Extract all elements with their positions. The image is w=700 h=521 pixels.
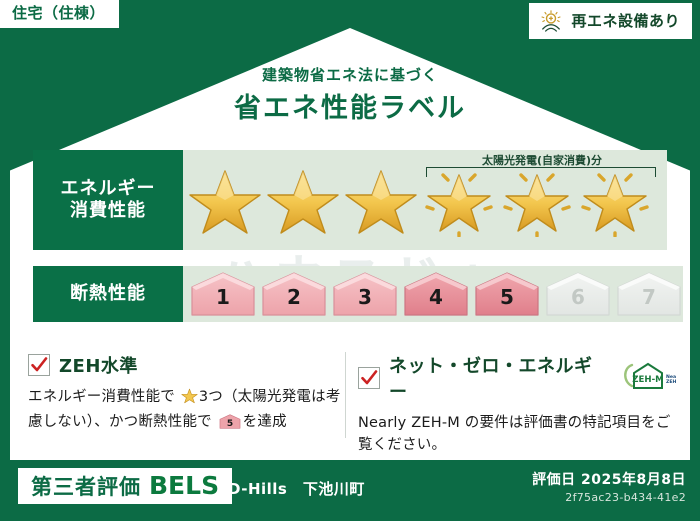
criteria-divider: [345, 352, 346, 438]
evaluation-date: 評価日 2025年8月8日: [532, 469, 686, 489]
star-rating: [183, 163, 653, 237]
insulation-performance-row: 断熱性能: [33, 266, 667, 322]
insulation-level-number: 1: [189, 270, 257, 318]
energy-row-label-line2: 消費性能: [70, 200, 146, 221]
energy-row-label-line1: エネルギー: [61, 178, 156, 199]
criterion-description: エネルギー消費性能で 3つ（太陽光発電は考慮しない）、かつ断熱性能で 5 を達成: [28, 386, 346, 438]
star-icon: [187, 163, 263, 237]
insulation-level-inline-icon: 5: [214, 418, 241, 434]
insulation-level-number: 4: [402, 270, 470, 318]
insulation-level-list: 1 2 3: [183, 270, 683, 318]
svg-text:5: 5: [226, 419, 232, 429]
solar-sun-icon: [538, 8, 564, 34]
evaluation-id: 2f75ac23-b434-41e2: [565, 491, 686, 504]
criterion-title: ZEH水準: [59, 352, 138, 378]
zeh-m-logo-icon: ZEH-M Nearly ZEH-M: [618, 361, 676, 395]
insulation-level-item: 4: [402, 270, 470, 318]
criterion-header: ZEH水準: [28, 352, 346, 378]
insulation-level-item: 2: [260, 270, 328, 318]
criterion-title: ネット・ゼロ・エネルギー: [389, 352, 605, 404]
star-icon: [343, 163, 419, 237]
building-name: D-Hills 下池川町: [228, 478, 365, 499]
building-type-tag: 住宅（住棟）: [0, 0, 119, 28]
energy-row-label: エネルギー 消費性能: [33, 150, 183, 250]
page-title: 省エネ性能ラベル: [0, 86, 700, 125]
insulation-levels-area: 1 2 3: [183, 266, 683, 322]
insulation-level-number: 6: [544, 270, 612, 318]
footer-bar: 第三者評価 BELS D-Hills 下池川町 評価日 2025年8月8日 2f…: [0, 460, 700, 521]
criterion-text-part1: エネルギー消費性能で: [28, 389, 175, 405]
insulation-level-number: 3: [331, 270, 399, 318]
energy-performance-label: 住宅（住棟） 再エネ設備あり 建築物省エネ法に基づく 省エネ性能ラベル ハウスド…: [0, 0, 700, 521]
svg-text:ZEH-M: ZEH-M: [666, 379, 676, 385]
third-party-evaluation-badge: 第三者評価 BELS: [18, 468, 232, 504]
insulation-level-number: 7: [615, 270, 683, 318]
star-icon: [265, 163, 341, 237]
energy-stars-area: 太陽光発電(自家消費)分: [183, 150, 667, 250]
criterion-text-part3: を達成: [243, 414, 287, 430]
insulation-level-item: 3: [331, 270, 399, 318]
insulation-level-item: 1: [189, 270, 257, 318]
star-icon-solar: [577, 163, 653, 237]
criterion-zeh-level: ZEH水準 エネルギー消費性能で 3つ（太陽光発電は考慮しない）、かつ断熱性能で…: [28, 352, 346, 438]
star-icon-solar: [421, 163, 497, 237]
insulation-row-label: 断熱性能: [33, 266, 183, 322]
criterion-header: ネット・ゼロ・エネルギー ZEH-M Nearly ZEH-M: [358, 352, 676, 404]
renewable-equipment-badge: 再エネ設備あり: [529, 3, 692, 39]
checkbox-checked-icon: [28, 354, 50, 376]
third-party-label: 第三者評価: [31, 477, 141, 498]
criterion-net-zero-energy: ネット・ゼロ・エネルギー ZEH-M Nearly ZEH-M Nearly Z…: [358, 352, 676, 457]
energy-performance-row: エネルギー 消費性能 太陽光発電(自家消費)分: [33, 150, 667, 250]
insulation-level-item: 6: [544, 270, 612, 318]
label-subtitle: 建築物省エネ法に基づく: [0, 64, 700, 85]
insulation-level-number: 5: [473, 270, 541, 318]
star-icon-inline: [176, 392, 198, 408]
renewable-badge-label: 再エネ設備あり: [571, 14, 680, 29]
insulation-level-item: 7: [615, 270, 683, 318]
criterion-description: Nearly ZEH-M の要件は評価書の特記項目をご覧ください。: [358, 412, 676, 457]
checkbox-checked-icon: [358, 367, 380, 389]
star-icon-solar: [499, 163, 575, 237]
bels-logo-text: BELS: [149, 473, 219, 498]
svg-text:ZEH-M: ZEH-M: [632, 375, 663, 385]
insulation-level-number: 2: [260, 270, 328, 318]
insulation-level-item: 5: [473, 270, 541, 318]
